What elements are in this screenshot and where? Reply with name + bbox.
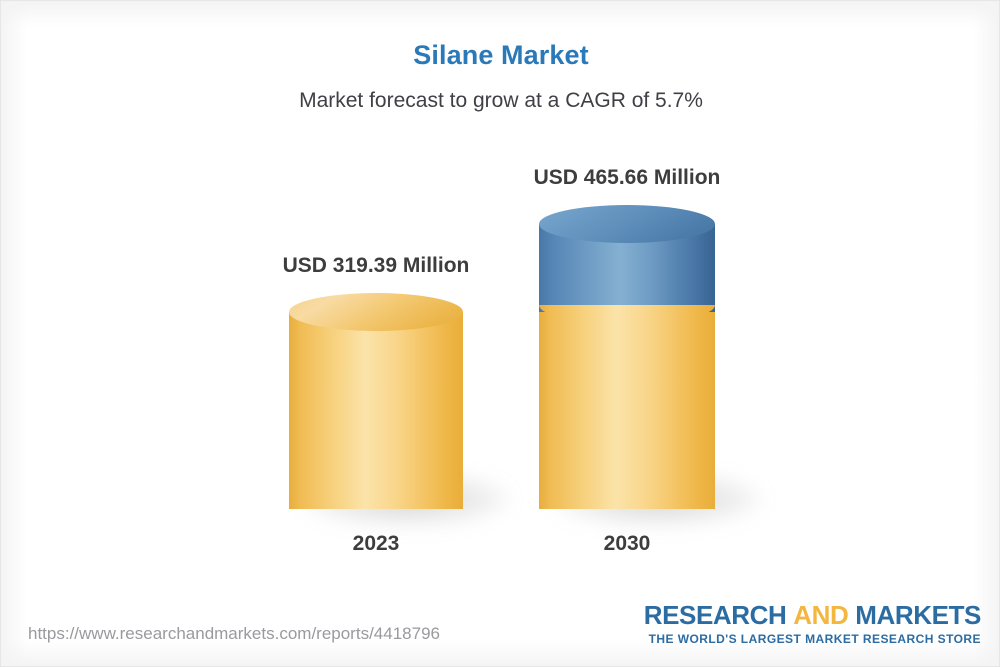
bar-value-label-2030: USD 465.66 Million [516, 166, 738, 190]
logo-word-and: AND [793, 600, 848, 630]
bar-category-label-2023: 2023 [289, 532, 463, 556]
logo-tagline: THE WORLD'S LARGEST MARKET RESEARCH STOR… [644, 632, 981, 646]
bar-category-label-2030: 2030 [539, 532, 715, 556]
bar-body-yellow-2023 [289, 312, 463, 509]
chart-subtitle: Market forecast to grow at a CAGR of 5.7… [1, 89, 1000, 113]
source-url[interactable]: https://www.researchandmarkets.com/repor… [28, 624, 440, 644]
research-and-markets-logo[interactable]: RESEARCH AND MARKETS THE WORLD'S LARGEST… [644, 602, 981, 646]
chart-title: Silane Market [1, 40, 1000, 71]
bar-top-cap-2030 [539, 205, 715, 243]
logo-word-research: RESEARCH [644, 600, 787, 630]
bar-seam-ellipse-2030 [539, 305, 715, 324]
logo-wordmark: RESEARCH AND MARKETS [644, 602, 981, 629]
bar-top-cap-2023 [289, 293, 463, 331]
chart-canvas: Silane Market Market forecast to grow at… [0, 0, 1000, 667]
bar-value-label-2023: USD 319.39 Million [265, 254, 487, 278]
logo-word-markets: MARKETS [855, 600, 981, 630]
bar-cylinder-2030[interactable] [539, 205, 715, 509]
bar-segment-seam-2030 [539, 305, 715, 325]
bar-body-yellow-2030 [539, 305, 715, 509]
bar-cylinder-2023[interactable] [289, 293, 463, 509]
